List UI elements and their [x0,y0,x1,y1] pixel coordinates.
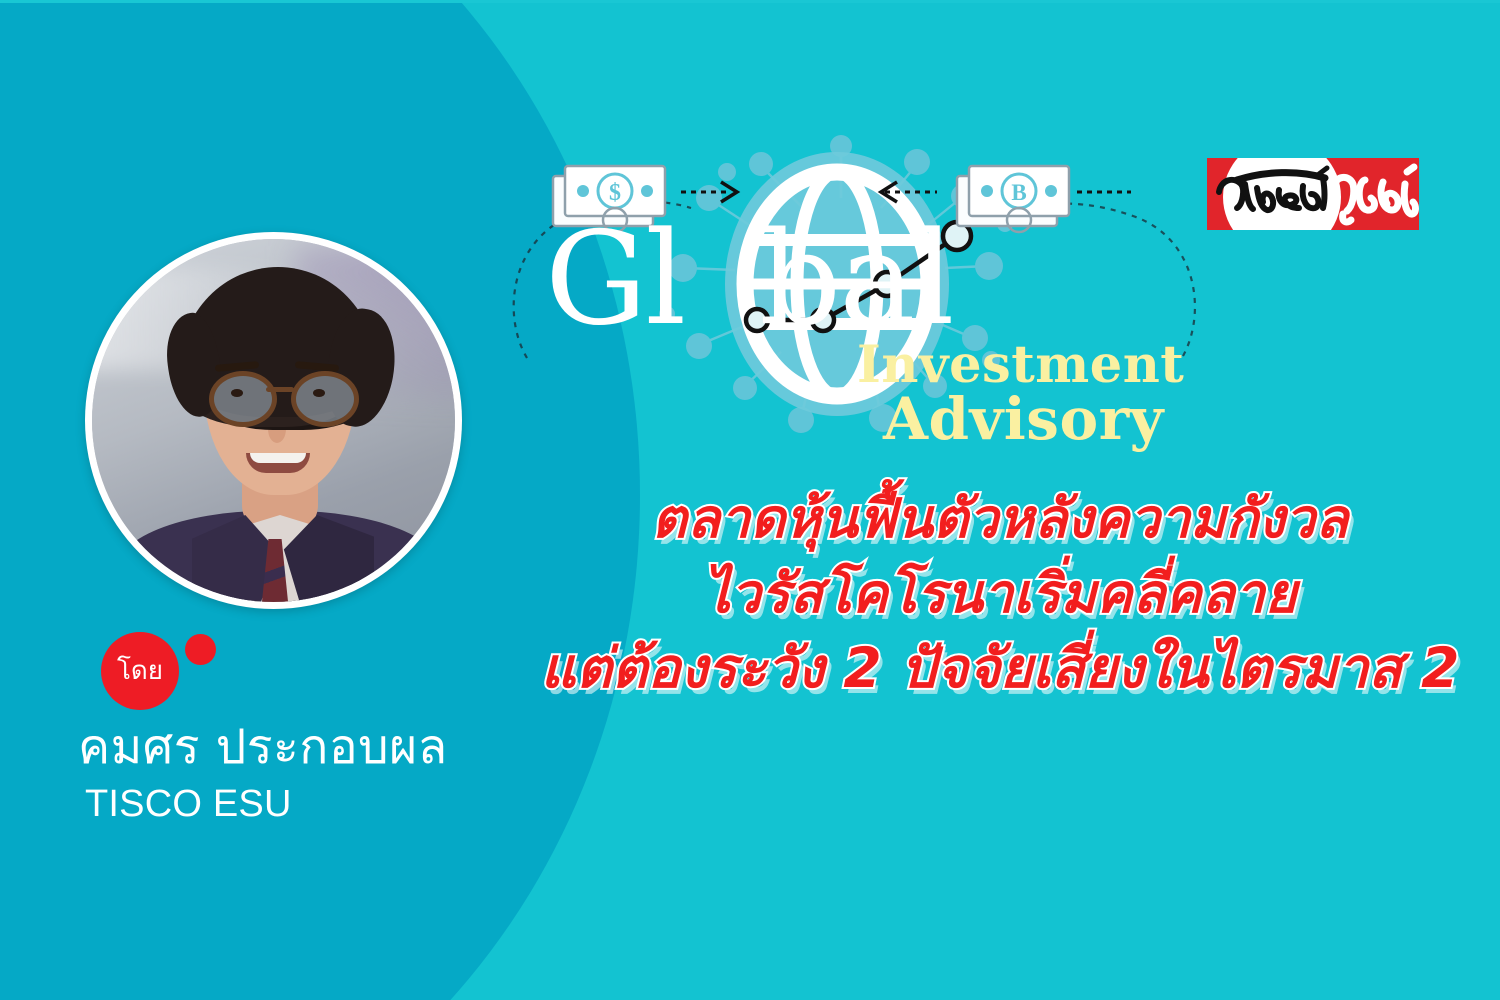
by-badge-label: โดย [117,658,163,684]
by-badge-dot [185,634,216,665]
logo-word-global-bal: bal [759,205,952,354]
eyeglasses-icon [205,371,355,417]
logo-word-global: Global [545,216,952,344]
logo-word-global-gl: Gl [545,205,684,354]
headline-line-1: ตลาดหุ้นฟื้นตัวหลังความกังวล [500,482,1500,557]
avatar-teeth [250,453,306,463]
headline-line-3: แต่ต้องระวัง 2 ปัจจัยเสี่ยงในไตรมาส 2 [500,631,1500,707]
eyeglass-lens-right [291,371,359,427]
logo-word-investment: Investment [857,340,1184,391]
avatar-photo [92,239,455,602]
avatar [85,232,462,609]
poster-canvas: โดย คมศร ประกอบผล TISCO ESU [0,0,1500,1000]
eyeglass-lens-left [209,371,277,427]
svg-text:$: $ [609,180,621,206]
bitcoin-banknote-icon: B [957,166,1069,232]
avatar-mouth [246,453,310,473]
avatar-nose [268,415,286,443]
headline-line-2: ไวรัสโคโรนาเริ่มคลี่คลาย [500,557,1500,632]
publisher-logo[interactable] [1207,158,1419,230]
publisher-logo-wordmark [1207,158,1419,230]
eyeglass-bridge [266,387,294,392]
headline: ตลาดหุ้นฟื้นตัวหลังความกังวล ไวรัสโคโรนา… [500,482,1500,707]
avatar-eye-left [231,389,243,397]
svg-text:B: B [1011,180,1026,205]
avatar-eye-right [313,389,325,397]
logo-word-advisory: Advisory [883,390,1164,448]
speaker-organization: TISCO ESU [85,784,292,826]
global-investment-advisory-logo: $ B [505,128,1205,438]
speaker-name: คมศร ประกอบผล [78,722,448,773]
background-top-edge [0,0,1500,3]
by-badge: โดย [101,632,179,710]
